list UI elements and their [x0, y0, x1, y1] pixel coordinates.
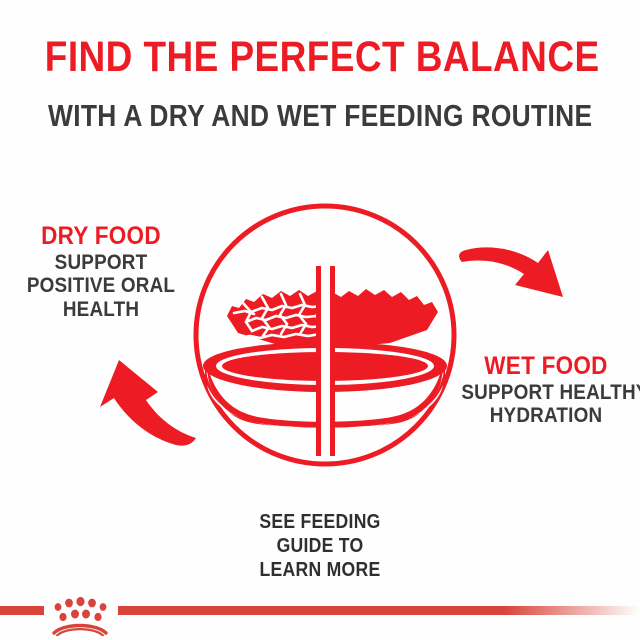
- wet-food-callout: WET FOOD SUPPORT HEALTHY HYDRATION: [452, 352, 640, 428]
- caption-line-1: SEE FEEDING: [188, 510, 452, 534]
- curved-arrow-up-left-icon: [100, 360, 196, 446]
- divider-gap: [321, 266, 330, 456]
- dry-food-title: DRY FOOD: [17, 222, 184, 251]
- dry-food-line-2: POSITIVE ORAL: [17, 274, 184, 298]
- divider-bar-left: [316, 266, 321, 456]
- wet-food-line-1: SUPPORT HEALTHY: [461, 381, 630, 405]
- caption-line-3: LEARN MORE: [188, 558, 452, 582]
- dry-food-callout: DRY FOOD SUPPORT POSITIVE ORAL HEALTH: [8, 222, 194, 322]
- curved-arrow-down-right-icon: [459, 247, 563, 297]
- dry-food-line-3: HEALTH: [17, 298, 184, 322]
- wet-food-mound: [325, 289, 438, 348]
- caption-line-2: GUIDE TO: [188, 534, 452, 558]
- pet-food-bowl-icon: [203, 266, 447, 456]
- wet-food-line-2: HYDRATION: [461, 404, 630, 428]
- footer-bar-right: [118, 606, 640, 615]
- divider-bar-right: [330, 266, 335, 456]
- poster-canvas: FIND THE PERFECT BALANCE WITH A DRY AND …: [0, 0, 640, 640]
- footer-bar-left: [0, 606, 44, 615]
- crown-arc-inner: [57, 629, 103, 635]
- dry-food-line-1: SUPPORT: [17, 251, 184, 275]
- feeding-guide-caption: SEE FEEDING GUIDE TO LEARN MORE: [170, 510, 470, 582]
- footer-brand-bar: [0, 592, 640, 640]
- royal-canin-crown-icon: [44, 592, 116, 636]
- dry-kibble-mound: [227, 290, 325, 348]
- wet-food-title: WET FOOD: [461, 352, 630, 381]
